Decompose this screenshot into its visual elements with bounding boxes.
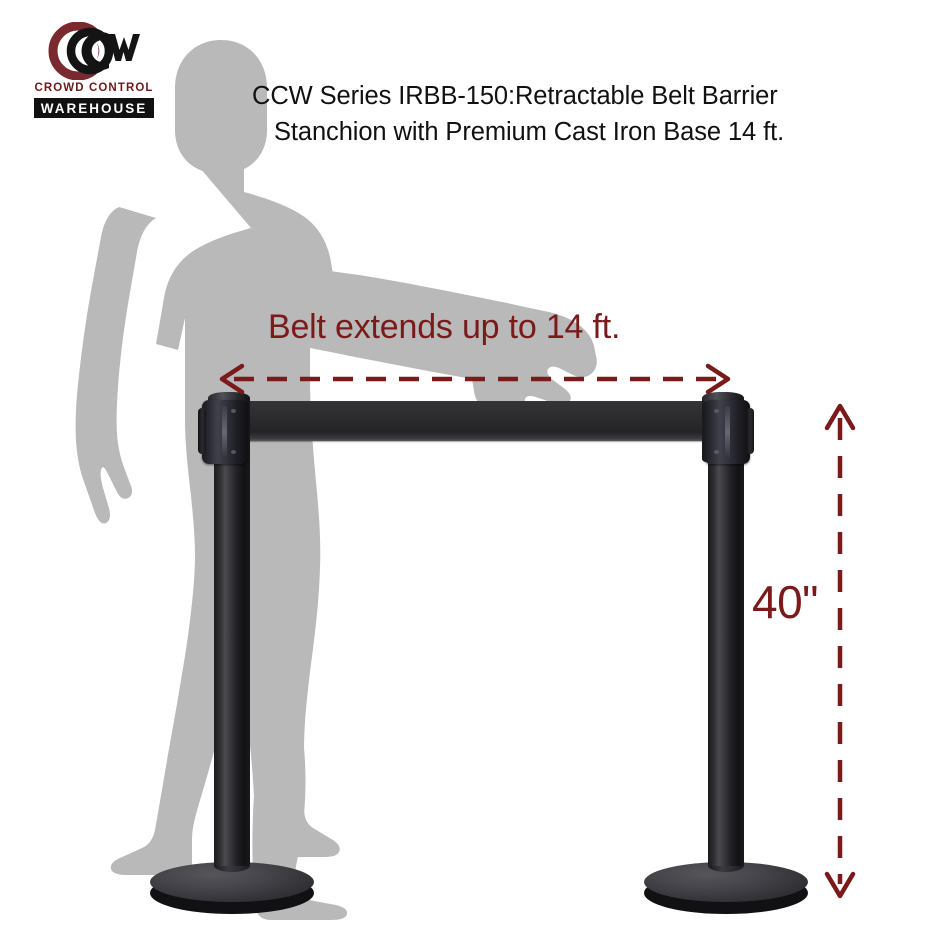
cassette-screw-bottom-right <box>714 450 719 454</box>
height-label: 40" <box>752 575 818 629</box>
cassette-screw-top-right <box>714 409 719 413</box>
retractable-belt <box>228 401 720 441</box>
brand-logo: CROWD CONTROL WAREHOUSE <box>28 22 160 130</box>
cassette-screw-top-left <box>231 409 236 413</box>
double-arrow-horizontal-icon <box>210 362 740 396</box>
product-title-line2: Stanchion with Premium Cast Iron Base 14… <box>252 114 932 150</box>
cassette-slot-left <box>222 406 227 458</box>
cassette-slot-right <box>725 406 730 458</box>
double-arrow-vertical-icon <box>822 396 858 906</box>
product-title: CCW Series IRBB-150:Retractable Belt Bar… <box>252 78 932 150</box>
cassette-side-right <box>746 408 754 454</box>
post-tube-left <box>214 430 250 866</box>
product-title-line1: CCW Series IRBB-150:Retractable Belt Bar… <box>252 78 932 114</box>
cassette-screw-bottom-left <box>231 450 236 454</box>
product-image-canvas: CROWD CONTROL WAREHOUSE CCW Series IRBB-… <box>0 0 950 950</box>
belt-extent-label: Belt extends up to 14 ft. <box>268 308 620 347</box>
brand-line1: CROWD CONTROL <box>28 82 160 94</box>
cassette-side-left <box>198 408 206 454</box>
post-tube-right <box>708 430 744 866</box>
ccw-monogram-icon <box>46 22 146 80</box>
brand-line2: WAREHOUSE <box>34 101 154 116</box>
